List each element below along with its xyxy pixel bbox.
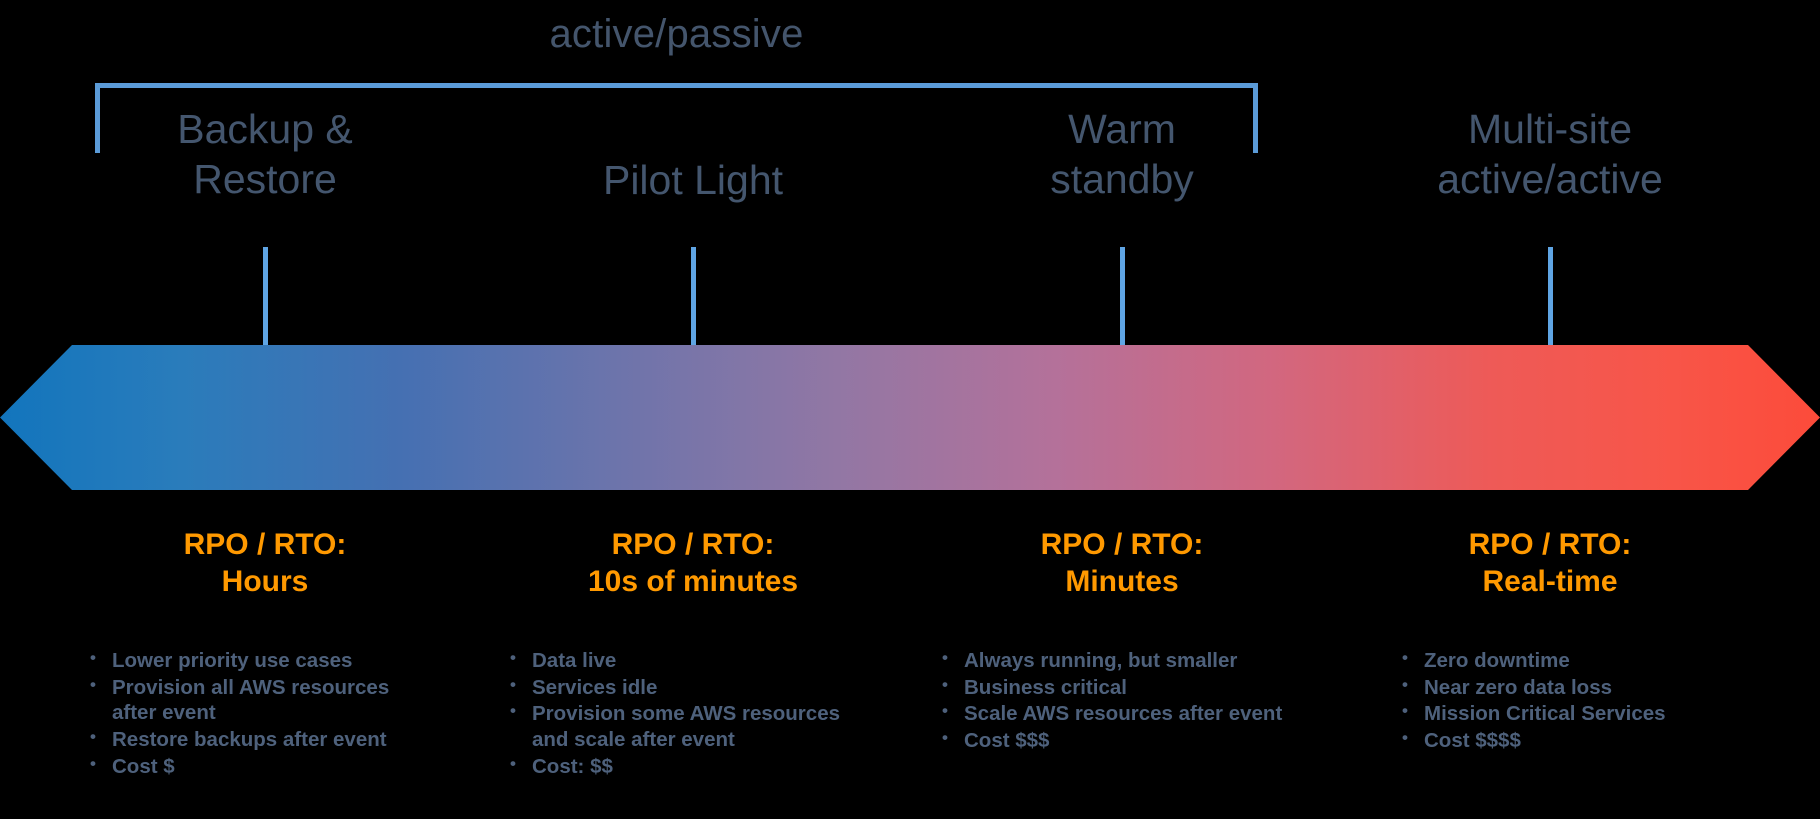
list-item: Always running, but smaller [940, 648, 1320, 674]
bullet-list-backup-restore: Lower priority use cases Provision all A… [88, 648, 428, 780]
list-item: Cost $$$$ [1400, 728, 1780, 754]
rpo-rto-value: 10s of minutes [483, 564, 903, 601]
list-item: Provision all AWS resources after event [88, 675, 428, 726]
bullet-list-warm-standby: Always running, but smaller Business cri… [940, 648, 1320, 755]
bullet-list-multi-site: Zero downtime Near zero data loss Missio… [1400, 648, 1780, 755]
list-item: Cost: $$ [508, 754, 858, 780]
list-item: Near zero data loss [1400, 675, 1780, 701]
list-item: Cost $ [88, 754, 428, 780]
list-item: Scale AWS resources after event [940, 701, 1320, 727]
rpo-rto-value: Hours [55, 564, 475, 601]
list-item: Restore backups after event [88, 727, 428, 753]
strategy-heading-line: standby [912, 154, 1332, 204]
strategy-heading-line: Warm [912, 104, 1332, 154]
strategy-heading-line: Backup & [55, 104, 475, 154]
strategy-heading-line: Multi-site [1340, 104, 1760, 154]
list-item: Cost $$$ [940, 728, 1320, 754]
bullet-list-pilot-light: Data live Services idle Provision some A… [508, 648, 858, 780]
dr-strategy-diagram: active/passive Backup & Restore Pilot Li… [0, 0, 1820, 819]
strategy-heading-multi-site: Multi-site active/active [1340, 104, 1760, 204]
strategy-heading-warm-standby: Warm standby [912, 104, 1332, 204]
strategy-heading-line: Pilot Light [483, 155, 903, 205]
strategy-heading-line: active/active [1340, 154, 1760, 204]
list-item: Provision some AWS resources and scale a… [508, 701, 858, 752]
rpo-rto-backup-restore: RPO / RTO: Hours [55, 527, 475, 600]
rpo-rto-warm-standby: RPO / RTO: Minutes [912, 527, 1332, 600]
rpo-rto-multi-site: RPO / RTO: Real-time [1340, 527, 1760, 600]
rpo-rto-label: RPO / RTO: [612, 528, 775, 561]
bracket-caption-active-passive: active/passive [0, 12, 1353, 56]
list-item: Data live [508, 648, 858, 674]
rpo-rto-value: Minutes [912, 564, 1332, 601]
list-item: Business critical [940, 675, 1320, 701]
rpo-rto-pilot-light: RPO / RTO: 10s of minutes [483, 527, 903, 600]
rpo-rto-label: RPO / RTO: [1469, 528, 1632, 561]
gradient-spectrum-arrow [0, 345, 1820, 490]
list-item: Zero downtime [1400, 648, 1780, 674]
rpo-rto-label: RPO / RTO: [1041, 528, 1204, 561]
strategy-heading-line: Restore [55, 154, 475, 204]
list-item: Mission Critical Services [1400, 701, 1780, 727]
strategy-heading-backup-restore: Backup & Restore [55, 104, 475, 204]
rpo-rto-label: RPO / RTO: [184, 528, 347, 561]
strategy-heading-pilot-light: Pilot Light [483, 155, 903, 205]
rpo-rto-value: Real-time [1340, 564, 1760, 601]
list-item: Services idle [508, 675, 858, 701]
list-item: Lower priority use cases [88, 648, 428, 674]
